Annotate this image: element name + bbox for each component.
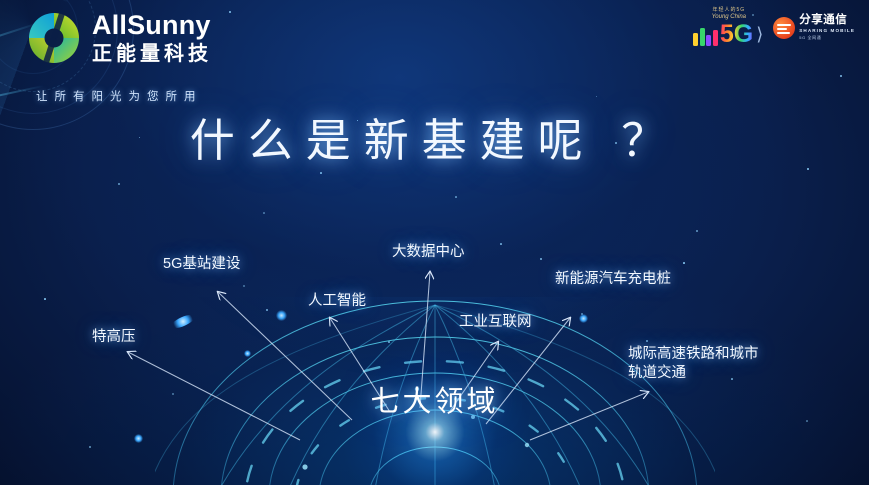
diagram-label-ev-charger: 新能源汽车充电桩 xyxy=(555,270,671,289)
brand-name-en: AllSunny xyxy=(92,12,212,39)
brand-name-cn: 正能量科技 xyxy=(92,44,212,64)
slash-divider-icon: ⟩ xyxy=(756,24,763,45)
sharing-name-cn: 分享通信 xyxy=(799,15,855,27)
diagram-center-label: 七大领域 xyxy=(0,378,869,420)
background-particle xyxy=(596,96,597,97)
background-particle xyxy=(806,420,808,422)
diagram-label-ai: 人工智能 xyxy=(308,292,366,311)
background-particle xyxy=(840,75,842,77)
background-glow-particle xyxy=(169,312,196,331)
allsunny-pinwheel-icon xyxy=(26,10,82,66)
slide-title: 什么是新基建呢 ？ xyxy=(0,104,869,169)
brand-logo: AllSunny 正能量科技 xyxy=(26,10,212,66)
background-particle xyxy=(243,285,245,287)
background-particle xyxy=(266,309,268,311)
background-particle xyxy=(500,243,502,245)
background-glow-particle xyxy=(579,314,588,323)
presentation-slide: AllSunny 正能量科技 让所有阳光为您所用 年轻人的5G Young Ch… xyxy=(0,0,869,485)
brand-tagline: 让所有阳光为您所用 xyxy=(36,88,203,104)
background-particle xyxy=(44,298,46,300)
background-particle xyxy=(683,262,685,264)
people-figures-icon xyxy=(693,24,718,46)
background-particle xyxy=(118,183,120,185)
sharing-sub-label: 5G 全网通 xyxy=(799,36,855,40)
background-particle xyxy=(263,212,265,214)
partner-logos: 年轻人的5G Young China 5G ⟩ 分享通信 SHARING MOB… xyxy=(693,8,855,47)
sharing-name-en: SHARING MOBILE xyxy=(799,29,855,34)
five-g-wordmark: 5G xyxy=(720,22,753,47)
light-streak-decoration xyxy=(9,0,68,3)
background-particle xyxy=(696,230,698,232)
background-particle xyxy=(455,196,457,198)
background-particle xyxy=(229,11,231,13)
diagram-label-big-data: 大数据中心 xyxy=(392,243,465,262)
diagram-label-5g-base: 5G基站建设 xyxy=(163,255,240,274)
sharing-mobile-logo: 分享通信 SHARING MOBILE 5G 全网通 xyxy=(773,15,855,40)
five-g-logo: 年轻人的5G Young China 5G ⟩ xyxy=(693,8,764,47)
background-particle xyxy=(540,258,542,260)
background-particle xyxy=(388,341,390,343)
diagram-label-iiot: 工业互联网 xyxy=(459,313,532,332)
background-particle xyxy=(646,340,648,342)
background-particle xyxy=(320,172,322,174)
background-glow-particle xyxy=(276,310,287,321)
diagram-label-uhv: 特高压 xyxy=(92,328,136,347)
background-particle xyxy=(89,446,91,448)
background-glow-particle xyxy=(134,434,143,443)
background-glow-particle xyxy=(244,350,251,357)
sharing-mobile-mark-icon xyxy=(773,17,795,39)
